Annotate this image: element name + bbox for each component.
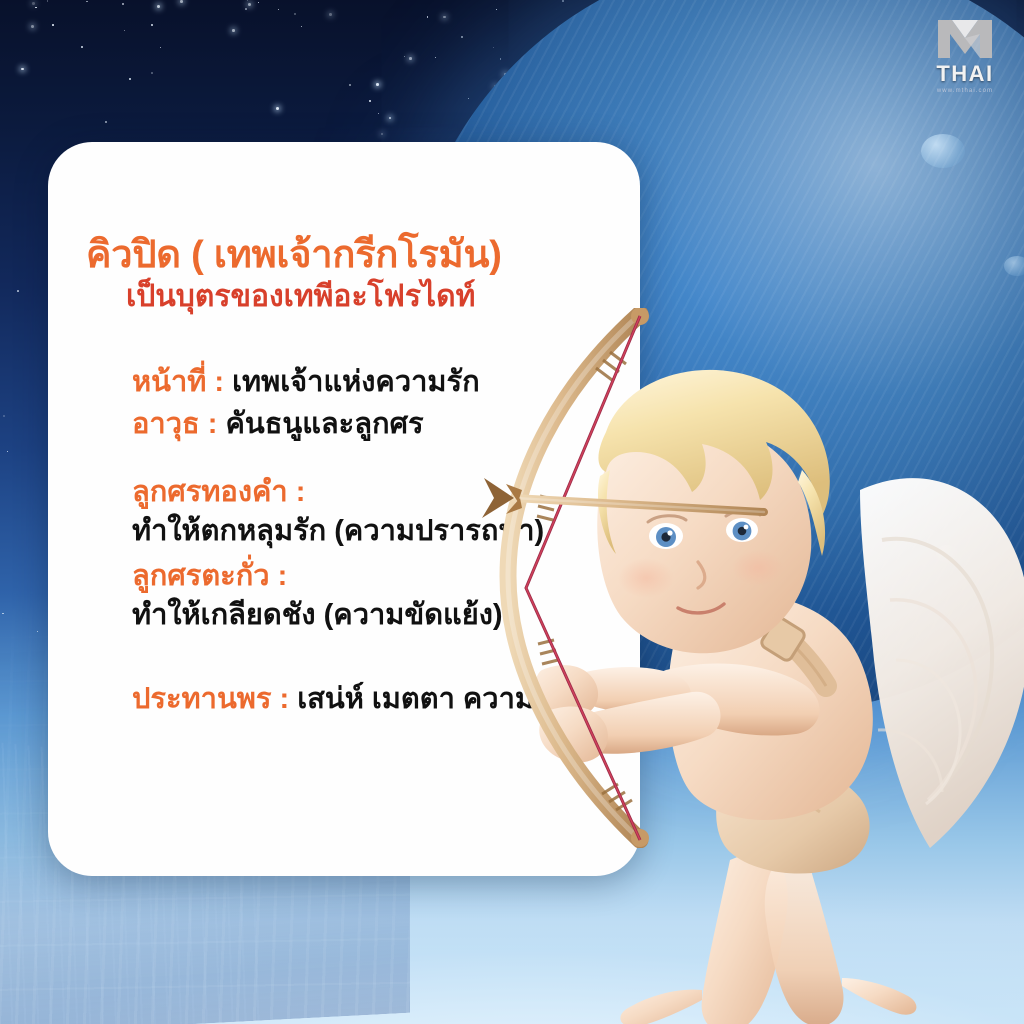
star-dot — [151, 72, 153, 74]
fact-label-blessing: ประทานพร : — [132, 683, 289, 715]
star-dot — [404, 56, 405, 57]
star-dot — [409, 57, 412, 60]
fact-value-weapon: คันธนูและลูกศร — [225, 408, 423, 440]
star-dot — [122, 3, 124, 5]
star-dot — [468, 98, 470, 100]
m-logo-icon — [936, 18, 994, 60]
star-dot — [247, 0, 248, 1]
star-dot — [378, 113, 379, 114]
star-dot — [461, 36, 462, 37]
star-dot — [52, 24, 54, 26]
star-dot — [435, 57, 436, 58]
star-dot — [276, 107, 279, 110]
star-dot — [157, 5, 160, 8]
star-dot — [496, 9, 497, 10]
star-dot — [258, 2, 259, 3]
star-dot — [35, 7, 37, 9]
star-dot — [245, 8, 247, 10]
brand-name: THAI — [922, 63, 1008, 85]
star-dot — [17, 290, 19, 292]
star-dot — [500, 58, 501, 59]
fact-label-weapon: อาวุธ : — [132, 408, 217, 440]
star-dot — [278, 9, 279, 10]
star-dot — [124, 30, 125, 31]
star-dot — [86, 1, 88, 3]
page-title: คิวปิด ( เทพเจ้ากรีกโรมัน) — [48, 234, 640, 277]
star-dot — [562, 0, 564, 2]
star-dot — [47, 0, 49, 2]
star-dot — [105, 121, 107, 123]
star-dot — [248, 3, 251, 6]
star-dot — [32, 2, 35, 5]
star-dot — [493, 47, 494, 48]
star-dot — [301, 26, 302, 27]
brand-logo[interactable]: THAI www.mthai.com — [922, 18, 1008, 96]
star-dot — [7, 451, 8, 452]
moon-crater — [1004, 256, 1024, 276]
star-dot — [31, 25, 34, 28]
star-dot — [376, 83, 379, 86]
star-dot — [81, 46, 83, 48]
cupid-illustration — [430, 300, 1024, 1024]
star-dot — [349, 84, 351, 86]
bowstring — [490, 308, 790, 868]
star-dot — [180, 0, 183, 3]
star-dot — [160, 47, 161, 48]
star-dot — [151, 24, 153, 26]
angel-wings — [860, 478, 1024, 848]
star-dot — [21, 68, 24, 71]
star-dot — [443, 16, 446, 19]
wooden-arrow-icon — [478, 468, 768, 528]
moon-crater — [921, 134, 965, 168]
star-dot — [381, 133, 383, 135]
star-dot — [3, 415, 5, 417]
star-dot — [232, 29, 235, 32]
star-dot — [329, 13, 332, 16]
star-dot — [129, 78, 131, 80]
star-dot — [389, 117, 391, 119]
brand-url: www.mthai.com — [922, 88, 1008, 94]
fact-label-duty: หน้าที่ : — [132, 366, 224, 398]
poster-canvas: คิวปิด ( เทพเจ้ากรีกโรมัน) เป็นบุตรของเท… — [0, 0, 1024, 1024]
star-dot — [369, 100, 371, 102]
star-dot — [427, 16, 429, 18]
star-dot — [294, 13, 295, 14]
